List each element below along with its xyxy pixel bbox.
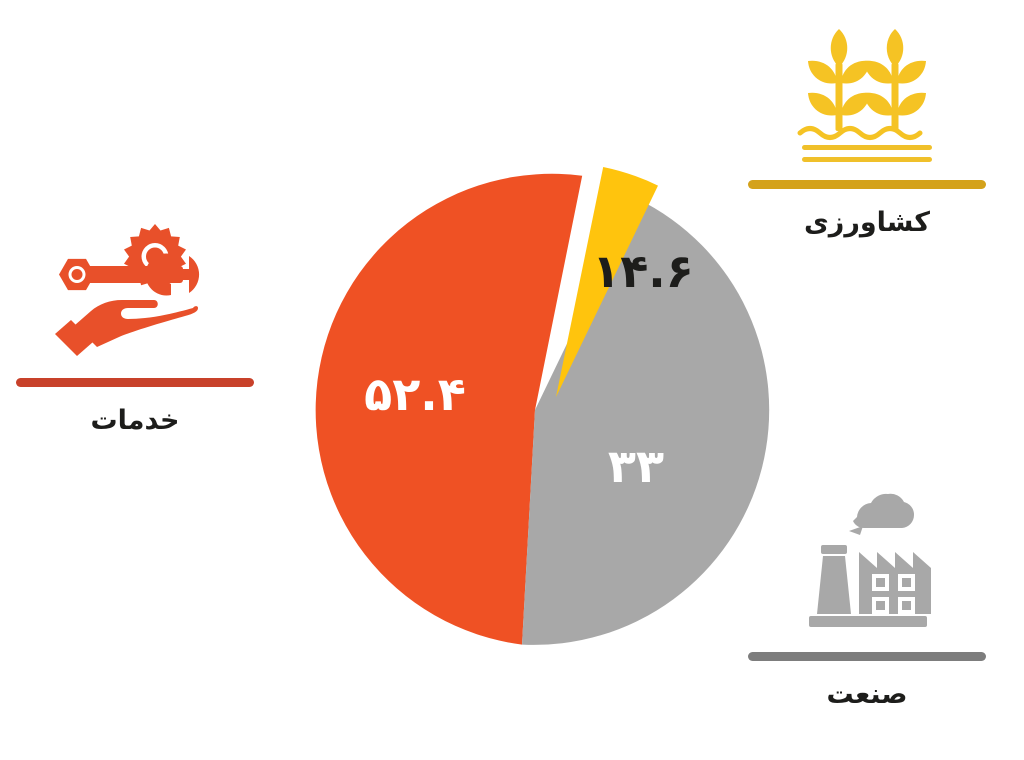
legend-label-industry: صنعت	[742, 679, 992, 711]
legend-bar-industry	[748, 652, 986, 661]
factory-icon	[742, 490, 992, 640]
legend-label-agriculture: کشاورزی	[742, 207, 992, 239]
pie-label-agriculture: ۱۴.۶	[592, 244, 694, 298]
pie-label-services: ۵۲.۴	[364, 367, 466, 421]
legend-item-industry[interactable]: صنعت	[742, 490, 992, 711]
legend-item-services[interactable]: خدمات	[10, 216, 260, 437]
hand-gear-wrench-icon	[10, 216, 260, 366]
legend-label-services: خدمات	[10, 405, 260, 437]
infographic-canvas: ۵۲.۴ ۳۳ ۱۴.۶	[0, 0, 1024, 760]
wheat-plants-icon	[742, 18, 992, 168]
pie-chart: ۵۲.۴ ۳۳ ۱۴.۶	[285, 155, 785, 665]
legend-item-agriculture[interactable]: کشاورزی	[742, 18, 992, 239]
pie-chart-svg: ۵۲.۴ ۳۳ ۱۴.۶	[285, 155, 785, 665]
legend-bar-services	[16, 378, 254, 387]
legend-bar-agriculture	[748, 180, 986, 189]
pie-label-industry: ۳۳	[608, 439, 664, 493]
